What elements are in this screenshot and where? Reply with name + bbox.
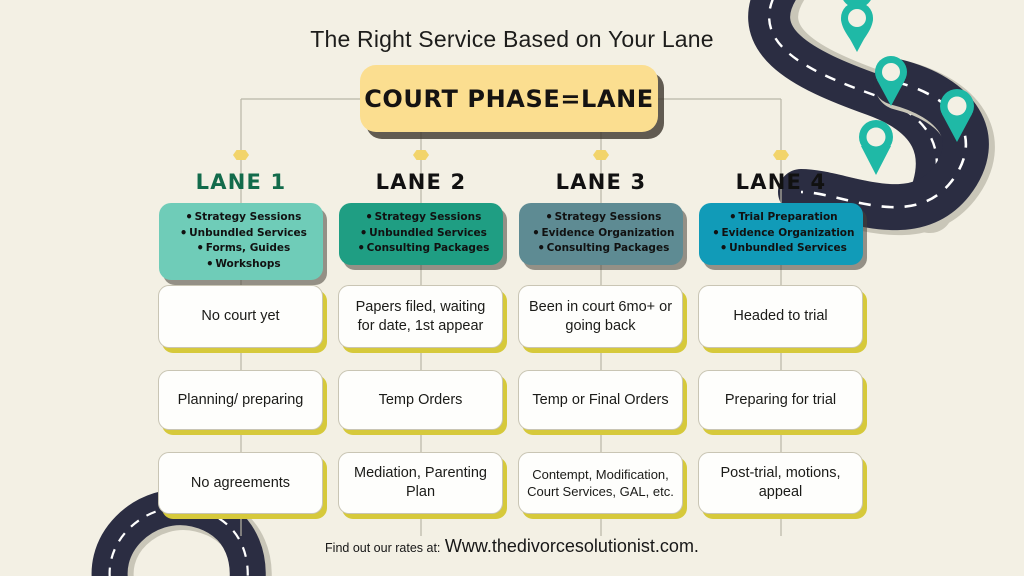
bullet-icon: • (537, 243, 546, 253)
service-item: •Workshops (163, 257, 319, 273)
service-item: •Consulting Packages (523, 241, 679, 257)
court-phase-header-box: COURT PHASE=LANE (360, 65, 658, 132)
lane-stage-label: Temp Orders (379, 391, 463, 410)
bullet-icon: • (545, 212, 554, 222)
footer: Find out our rates at: Www.thedivorcesol… (0, 536, 1024, 557)
service-item: •Evidence Organization (703, 226, 859, 242)
lane-title-3: LANE 3 (512, 170, 690, 194)
lane-stage-box-1-1: No court yet (158, 285, 323, 348)
lane-stage-box-4-3: Post-trial, motions, appeal (698, 452, 863, 514)
lane-stage-label: Preparing for trial (725, 391, 836, 410)
lane-stage-box-4-2: Preparing for trial (698, 370, 863, 430)
lane-services-list-1: •Strategy Sessions •Unbundled Services •… (163, 210, 319, 272)
lane-stage-label: Been in court 6mo+ or going back (527, 298, 674, 336)
lane-stage-box-3-2: Temp or Final Orders (518, 370, 683, 430)
bullet-icon: • (531, 228, 540, 238)
lane-stage-label: No court yet (201, 307, 279, 326)
connector-marker (773, 150, 789, 160)
map-pin-3 (940, 89, 974, 142)
service-item: •Evidence Organization (523, 226, 679, 242)
lane-stage-box-3-1: Been in court 6mo+ or going back (518, 285, 683, 348)
lane-stage-box-2-3: Mediation, Parenting Plan (338, 452, 503, 514)
lane-title-2: LANE 2 (332, 170, 510, 194)
lane-stage-label: Mediation, Parenting Plan (347, 464, 494, 502)
lane-services-box-2: •Strategy Sessions •Unbundled Services •… (339, 203, 503, 265)
service-item: •Consulting Packages (343, 241, 499, 257)
lane-stage-box-3-3: Contempt, Modification, Court Services, … (518, 452, 683, 514)
lane-stage-box-2-2: Temp Orders (338, 370, 503, 430)
service-item: •Unbundled Services (703, 241, 859, 257)
lane-services-list-4: •Trial Preparation •Evidence Organizatio… (703, 210, 859, 257)
lane-services-box-1: •Strategy Sessions •Unbundled Services •… (159, 203, 323, 280)
service-item: •Trial Preparation (703, 210, 859, 226)
map-pin-2 (875, 56, 907, 106)
bullet-icon: • (205, 259, 214, 269)
service-item: •Strategy Sessions (523, 210, 679, 226)
lane-stage-label: Temp or Final Orders (532, 391, 668, 410)
bullet-icon: • (365, 212, 374, 222)
bullet-icon: • (719, 243, 728, 253)
bullet-icon: • (179, 228, 188, 238)
lane-stage-box-1-3: No agreements (158, 452, 323, 514)
service-item: •Unbundled Services (163, 226, 319, 242)
bullet-icon: • (711, 228, 720, 238)
lane-services-box-4: •Trial Preparation •Evidence Organizatio… (699, 203, 863, 265)
court-phase-header-label: COURT PHASE=LANE (364, 85, 654, 113)
footer-lead-text: Find out our rates at: (325, 541, 440, 555)
lane-services-box-3: •Strategy Sessions •Evidence Organizatio… (519, 203, 683, 265)
lane-stage-label: No agreements (191, 474, 290, 493)
infographic-canvas: The Right Service Based on Your Lane COU… (0, 0, 1024, 576)
bullet-icon: • (185, 212, 194, 222)
connector-marker (413, 150, 429, 160)
lane-title-4: LANE 4 (692, 170, 870, 194)
service-item: •Unbundled Services (343, 226, 499, 242)
lane-stage-box-1-2: Planning/ preparing (158, 370, 323, 430)
service-item: •Strategy Sessions (343, 210, 499, 226)
lane-stage-label: Contempt, Modification, Court Services, … (527, 466, 674, 500)
map-pin-4 (859, 120, 893, 175)
lane-stage-box-4-1: Headed to trial (698, 285, 863, 348)
lane-stage-label: Papers filed, waiting for date, 1st appe… (347, 298, 494, 336)
footer-url[interactable]: Www.thedivorcesolutionist.com. (445, 536, 699, 556)
lane-title-1: LANE 1 (152, 170, 330, 194)
lane-services-list-3: •Strategy Sessions •Evidence Organizatio… (523, 210, 679, 257)
connector-marker (233, 150, 249, 160)
connector-marker (593, 150, 609, 160)
service-item: •Strategy Sessions (163, 210, 319, 226)
bullet-icon: • (359, 228, 368, 238)
bullet-icon: • (728, 212, 737, 222)
lane-stage-label: Planning/ preparing (178, 391, 304, 410)
service-item: •Forms, Guides (163, 241, 319, 257)
lane-services-list-2: •Strategy Sessions •Unbundled Services •… (343, 210, 499, 257)
lane-stage-label: Headed to trial (733, 307, 827, 326)
lane-stage-box-2-1: Papers filed, waiting for date, 1st appe… (338, 285, 503, 348)
lane-stage-label: Post-trial, motions, appeal (707, 464, 854, 502)
bullet-icon: • (196, 243, 205, 253)
bullet-icon: • (357, 243, 366, 253)
page-title: The Right Service Based on Your Lane (0, 26, 1024, 53)
